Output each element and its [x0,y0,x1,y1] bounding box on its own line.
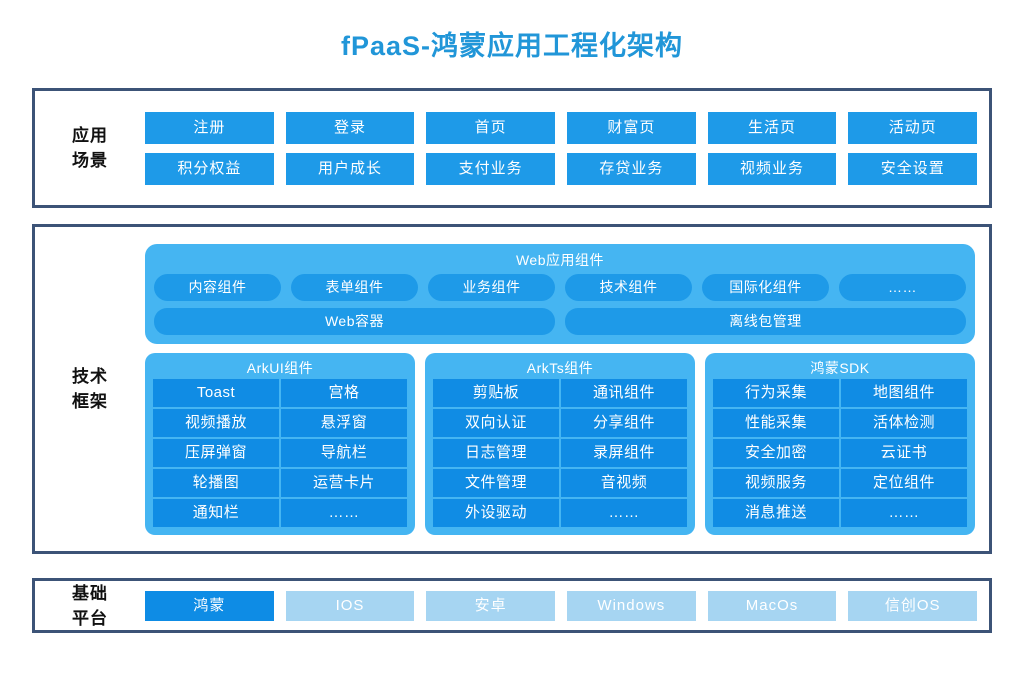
component-cell[interactable]: 导航栏 [281,439,407,467]
web-container-bar-row: Web容器离线包管理 [154,308,966,335]
component-cell[interactable]: Toast [153,379,279,407]
component-cell[interactable]: 宫格 [281,379,407,407]
web-component-pill-row: 内容组件表单组件业务组件技术组件国际化组件…… [154,274,966,301]
component-column: ArkTs组件剪贴板通讯组件双向认证分享组件日志管理录屏组件文件管理音视频外设驱… [425,353,695,535]
section-label-line-2: 框架 [35,389,145,414]
component-cell[interactable]: 通知栏 [153,499,279,527]
scenario-row: 注册登录首页财富页生活页活动页 [145,112,977,144]
section-base-platform: 基础 平台 鸿蒙IOS安卓WindowsMacOs信创OS [32,578,992,633]
section-label-line-2: 平台 [35,606,145,631]
component-cell[interactable]: 性能采集 [713,409,839,437]
section-label-line-1: 技术 [35,364,145,389]
component-column-title: 鸿蒙SDK [713,357,967,379]
component-cell[interactable]: 外设驱动 [433,499,559,527]
component-cell[interactable]: …… [561,499,687,527]
scenario-tile-rows: 注册登录首页财富页生活页活动页积分权益用户成长支付业务存贷业务视频业务安全设置 [145,112,989,185]
platform-tile-row: 鸿蒙IOS安卓WindowsMacOs信创OS [145,591,989,621]
scenario-tile[interactable]: 支付业务 [426,153,555,185]
scenario-tile[interactable]: 财富页 [567,112,696,144]
scenario-tile[interactable]: 注册 [145,112,274,144]
section-label-line-2: 场景 [35,148,145,173]
section-label-line-1: 应用 [35,123,145,148]
section-label-application-scenarios: 应用 场景 [35,123,145,173]
section-label-line-1: 基础 [35,581,145,606]
component-cell[interactable]: 运营卡片 [281,469,407,497]
component-cell[interactable]: 视频服务 [713,469,839,497]
scenario-tile[interactable]: 用户成长 [286,153,415,185]
base-platform-body: 鸿蒙IOS安卓WindowsMacOs信创OS [145,591,989,621]
component-column: ArkUI组件Toast宫格视频播放悬浮窗压屏弹窗导航栏轮播图运营卡片通知栏…… [145,353,415,535]
section-label-base-platform: 基础 平台 [35,581,145,631]
technical-component-columns: ArkUI组件Toast宫格视频播放悬浮窗压屏弹窗导航栏轮播图运营卡片通知栏……… [145,353,975,535]
technical-framework-body: Web应用组件 内容组件表单组件业务组件技术组件国际化组件…… Web容器离线包… [145,236,989,543]
component-cell[interactable]: 行为采集 [713,379,839,407]
component-cell[interactable]: 消息推送 [713,499,839,527]
page-title: fPaaS-鸿蒙应用工程化架构 [0,0,1024,88]
component-cell[interactable]: 活体检测 [841,409,967,437]
platform-tile[interactable]: 安卓 [426,591,555,621]
web-component-pill[interactable]: 技术组件 [565,274,692,301]
platform-tile[interactable]: Windows [567,591,696,621]
component-cell[interactable]: 安全加密 [713,439,839,467]
component-column-title: ArkUI组件 [153,357,407,379]
scenario-tile[interactable]: 视频业务 [708,153,837,185]
architecture-diagram: fPaaS-鸿蒙应用工程化架构 应用 场景 注册登录首页财富页生活页活动页积分权… [0,0,1024,675]
scenario-tile[interactable]: 存贷业务 [567,153,696,185]
scenario-tile[interactable]: 生活页 [708,112,837,144]
scenario-tile[interactable]: 首页 [426,112,555,144]
scenario-tile[interactable]: 登录 [286,112,415,144]
component-cell-grid: 剪贴板通讯组件双向认证分享组件日志管理录屏组件文件管理音视频外设驱动…… [433,379,687,527]
web-component-pill[interactable]: 国际化组件 [702,274,829,301]
component-cell[interactable]: 悬浮窗 [281,409,407,437]
section-application-scenarios: 应用 场景 注册登录首页财富页生活页活动页积分权益用户成长支付业务存贷业务视频业… [32,88,992,208]
platform-tile[interactable]: MacOs [708,591,837,621]
platform-tile[interactable]: 鸿蒙 [145,591,274,621]
component-cell-grid: Toast宫格视频播放悬浮窗压屏弹窗导航栏轮播图运营卡片通知栏…… [153,379,407,527]
section-label-technical-framework: 技术 框架 [35,364,145,414]
component-cell[interactable]: 轮播图 [153,469,279,497]
platform-tile[interactable]: IOS [286,591,415,621]
scenario-tile[interactable]: 活动页 [848,112,977,144]
web-component-pill[interactable]: 业务组件 [428,274,555,301]
scenario-tile[interactable]: 积分权益 [145,153,274,185]
component-cell[interactable]: 文件管理 [433,469,559,497]
section-technical-framework: 技术 框架 Web应用组件 内容组件表单组件业务组件技术组件国际化组件…… We… [32,224,992,554]
web-component-pill[interactable]: 内容组件 [154,274,281,301]
component-column-title: ArkTs组件 [433,357,687,379]
scenarios-body: 注册登录首页财富页生活页活动页积分权益用户成长支付业务存贷业务视频业务安全设置 [145,112,989,185]
web-application-components-title: Web应用组件 [154,250,966,271]
component-column: 鸿蒙SDK行为采集地图组件性能采集活体检测安全加密云证书视频服务定位组件消息推送… [705,353,975,535]
component-cell[interactable]: 双向认证 [433,409,559,437]
component-cell[interactable]: 压屏弹窗 [153,439,279,467]
platform-tile[interactable]: 信创OS [848,591,977,621]
component-cell[interactable]: 分享组件 [561,409,687,437]
web-container-bar[interactable]: Web容器 [154,308,555,335]
component-cell[interactable]: 定位组件 [841,469,967,497]
component-cell[interactable]: …… [841,499,967,527]
web-component-pill[interactable]: 表单组件 [291,274,418,301]
web-container-bar[interactable]: 离线包管理 [565,308,966,335]
component-cell[interactable]: …… [281,499,407,527]
scenario-row: 积分权益用户成长支付业务存贷业务视频业务安全设置 [145,153,977,185]
component-cell[interactable]: 地图组件 [841,379,967,407]
component-cell[interactable]: 视频播放 [153,409,279,437]
web-application-components-panel: Web应用组件 内容组件表单组件业务组件技术组件国际化组件…… Web容器离线包… [145,244,975,344]
component-cell[interactable]: 剪贴板 [433,379,559,407]
component-cell[interactable]: 云证书 [841,439,967,467]
component-cell-grid: 行为采集地图组件性能采集活体检测安全加密云证书视频服务定位组件消息推送…… [713,379,967,527]
component-cell[interactable]: 通讯组件 [561,379,687,407]
scenario-tile[interactable]: 安全设置 [848,153,977,185]
web-component-pill[interactable]: …… [839,274,966,301]
component-cell[interactable]: 音视频 [561,469,687,497]
component-cell[interactable]: 日志管理 [433,439,559,467]
component-cell[interactable]: 录屏组件 [561,439,687,467]
